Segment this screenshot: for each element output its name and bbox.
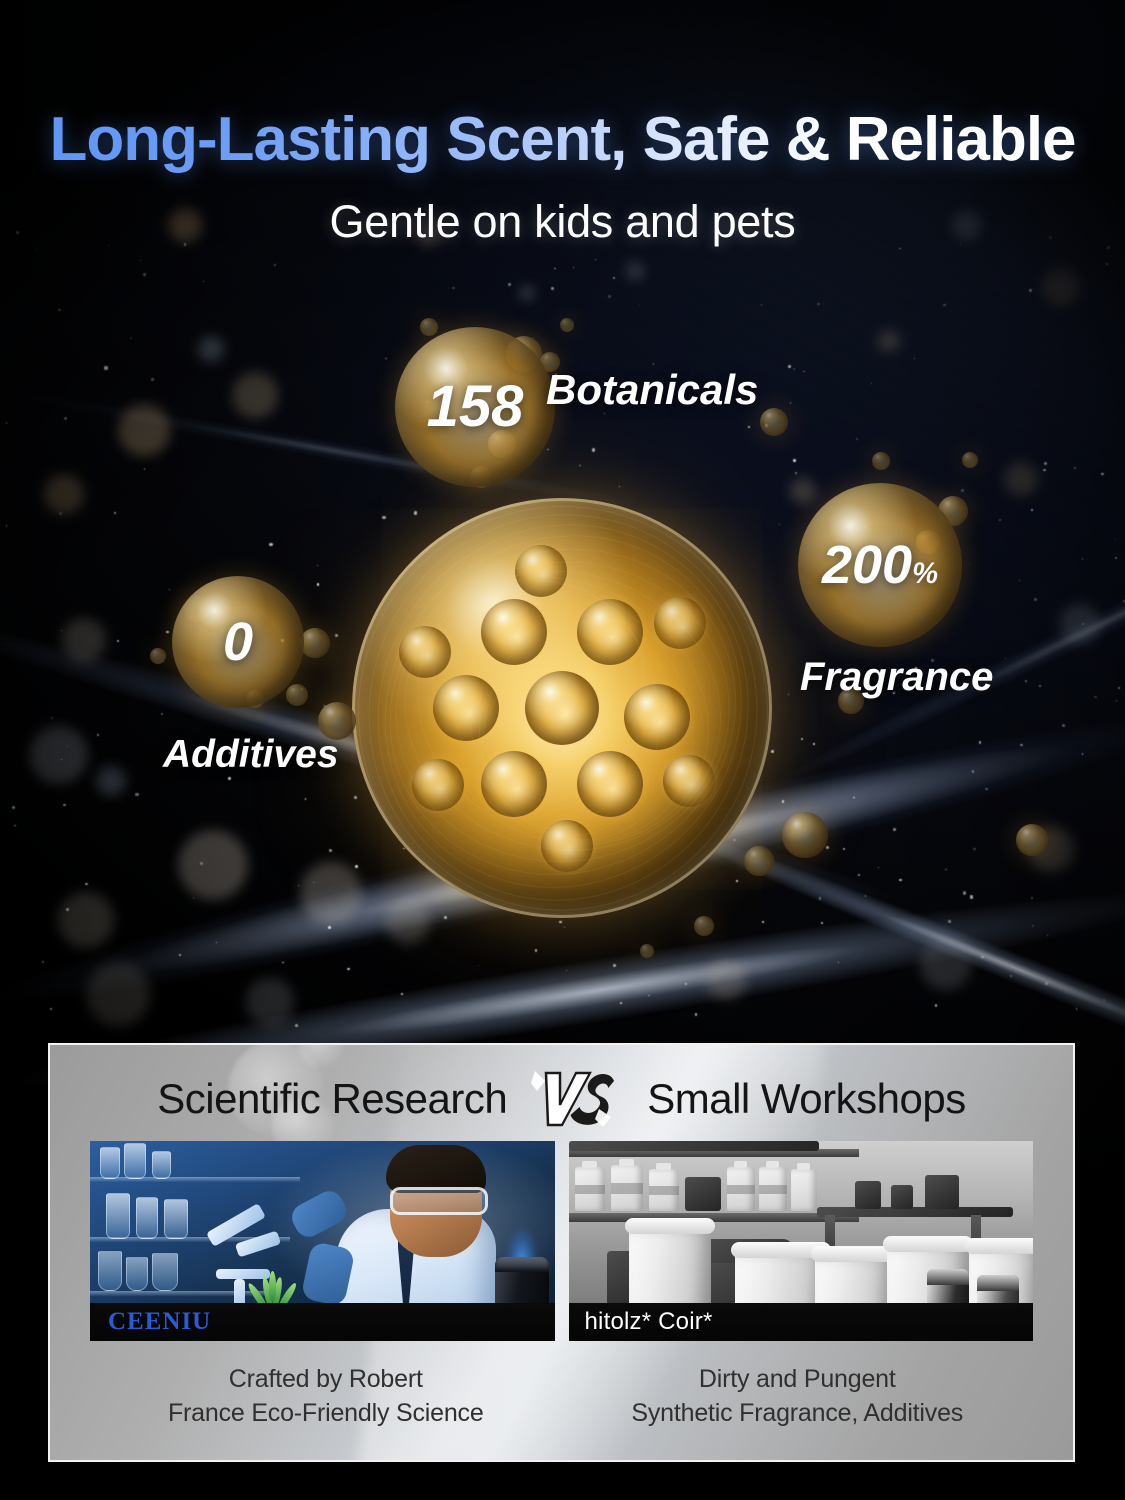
caption-left-line2: France Eco-Friendly Science: [90, 1397, 562, 1431]
comparison-title-right: Small Workshops: [647, 1075, 966, 1123]
lab-bottle-4: [106, 1193, 130, 1239]
comparison-photo-row: CEENIU: [90, 1141, 1033, 1341]
bucket-lid-5: [965, 1238, 1034, 1254]
stat-value-fragrance-number: 200: [822, 535, 912, 595]
chemical-jug-3: [649, 1169, 679, 1211]
vs-icon: [529, 1069, 625, 1129]
floating-bubble: [300, 628, 330, 658]
chemical-jug-1: [575, 1167, 605, 1211]
floating-bubble: [872, 452, 890, 470]
stat-value-botanicals: 158: [427, 378, 524, 436]
bucket-lid-1: [625, 1218, 715, 1234]
page-subtitle: Gentle on kids and pets: [0, 196, 1125, 248]
stat-label-botanicals: Botanicals: [546, 366, 758, 414]
safety-goggles-icon: [390, 1187, 488, 1215]
stat-bubble-additives: 0: [172, 576, 304, 708]
workshop-clutter-3: [925, 1175, 959, 1209]
floating-bubble: [962, 452, 978, 468]
photo-scientific-lab: CEENIU: [90, 1141, 555, 1341]
lab-beaker-2: [126, 1257, 148, 1291]
chemical-jug-4: [727, 1167, 755, 1211]
brand-bar-right: hitolz* Coir*: [569, 1303, 1034, 1341]
plant-leaf-5: [269, 1271, 276, 1301]
caption-right-line2: Synthetic Fragrance, Additives: [562, 1397, 1034, 1431]
workshop-table: [817, 1207, 1013, 1217]
caption-right-line1: Dirty and Pungent: [562, 1363, 1034, 1397]
scientist-hair: [386, 1145, 486, 1193]
lab-bottle-5: [136, 1197, 158, 1239]
floating-bubble: [782, 812, 828, 858]
workshop-crate-top: [569, 1141, 819, 1151]
stat-bubble-botanicals: 158: [395, 327, 555, 487]
stat-value-fragrance-suffix: %: [912, 558, 938, 590]
floating-bubble: [694, 916, 714, 936]
floating-bubble: [1016, 824, 1048, 856]
floating-bubble: [760, 408, 788, 436]
floating-bubble: [150, 648, 166, 664]
floating-bubble: [560, 318, 574, 332]
workshop-clutter-2: [891, 1185, 913, 1209]
product-marketing-image: Long-Lasting Scent, Safe & Reliable Gent…: [0, 0, 1125, 1500]
lab-bottle-6: [164, 1199, 188, 1239]
stat-label-additives: Additives: [163, 733, 339, 777]
sphere-rim-light: [352, 498, 772, 918]
brand-bar-left: CEENIU: [90, 1303, 555, 1341]
workshop-bottle-group: [685, 1177, 721, 1211]
comparison-title: Scientific Research Small Workshops: [50, 1069, 1073, 1129]
floating-bubble: [420, 318, 438, 336]
floating-bubble: [286, 684, 308, 706]
comparison-panel: Scientific Research Small Workshops: [48, 1043, 1075, 1462]
floating-bubble: [640, 944, 654, 958]
caption-right: Dirty and Pungent Synthetic Fragrance, A…: [562, 1363, 1034, 1430]
stat-bubble-fragrance: 200%: [798, 483, 962, 647]
competitor-device-2-cap: [977, 1275, 1019, 1291]
chemical-jug-2: [611, 1165, 643, 1211]
comparison-title-left: Scientific Research: [157, 1075, 507, 1123]
photo-small-workshop: hitolz* Coir*: [569, 1141, 1034, 1341]
scientist-glove-left: [287, 1186, 351, 1241]
floating-bubble: [744, 846, 774, 876]
caption-left: Crafted by Robert France Eco-Friendly Sc…: [90, 1363, 562, 1430]
stat-label-fragrance: Fragrance: [800, 655, 993, 700]
workshop-clutter-1: [855, 1181, 881, 1209]
lab-beaker-3: [152, 1253, 178, 1291]
chemical-jug-6: [791, 1169, 817, 1211]
fragrance-core-sphere: [352, 498, 772, 918]
chemical-jug-5: [759, 1167, 787, 1211]
competitor-device-1-cap: [927, 1269, 969, 1285]
bucket-lid-4: [883, 1236, 973, 1252]
stat-value-additives: 0: [223, 615, 253, 669]
lab-bottle-1: [100, 1147, 120, 1179]
stat-value-fragrance: 200%: [822, 538, 938, 592]
caption-left-line1: Crafted by Robert: [90, 1363, 562, 1397]
lab-beaker-1: [98, 1251, 122, 1291]
brand-label-ceeniu: CEENIU: [108, 1308, 211, 1336]
comparison-captions: Crafted by Robert France Eco-Friendly Sc…: [90, 1363, 1033, 1430]
lab-shelf-top: [90, 1177, 300, 1182]
lab-bottle-3: [152, 1151, 171, 1179]
brand-label-competitors: hitolz* Coir*: [585, 1308, 713, 1336]
page-title: Long-Lasting Scent, Safe & Reliable: [0, 104, 1125, 175]
microscope-tube: [235, 1231, 281, 1258]
device-top-cap: [495, 1257, 549, 1272]
lab-bottle-2: [124, 1143, 146, 1179]
panel-bokeh-3: [298, 1043, 344, 1069]
